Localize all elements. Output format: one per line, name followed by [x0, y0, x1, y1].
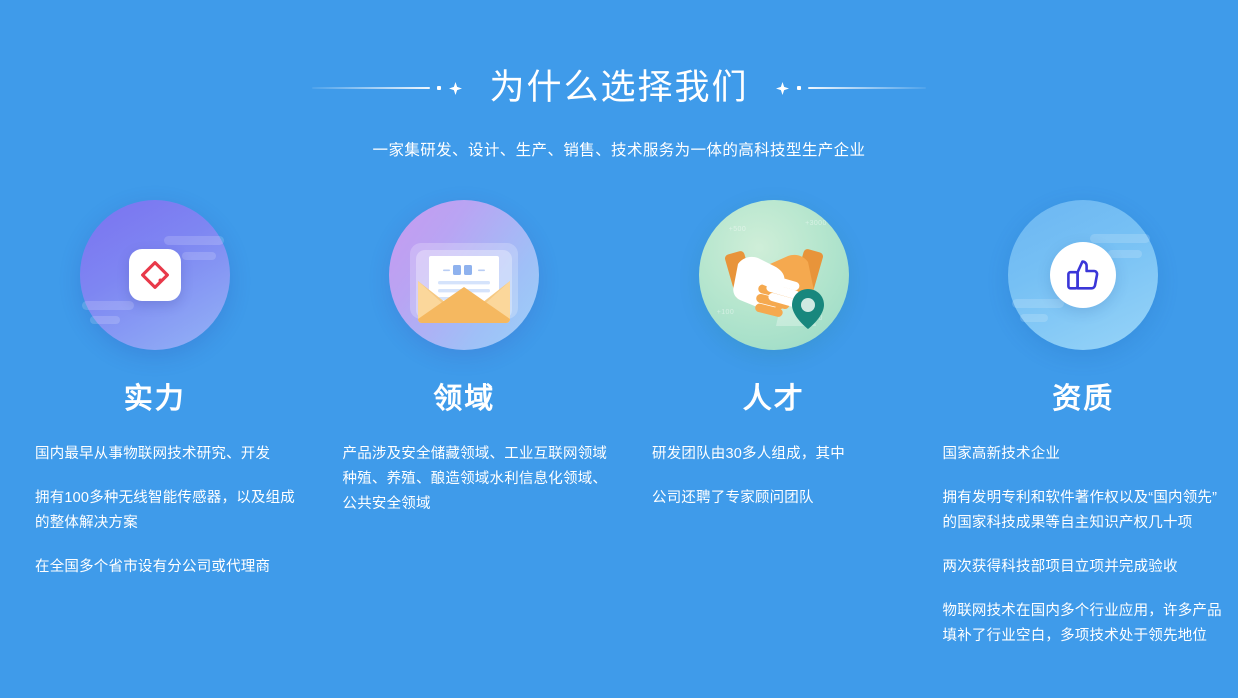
decoration-line-left: [312, 87, 430, 89]
feature-paragraph: 在全国多个省市设有分公司或代理商: [35, 555, 298, 580]
title-decoration-left: [312, 81, 463, 96]
feature-paragraph: 国内最早从事物联网技术研究、开发: [35, 442, 298, 467]
feature-paragraph: 拥有发明专利和软件著作权以及“国内领先”的国家科技成果等自主知识产权几十项: [943, 486, 1226, 536]
feature-heading: 领域: [433, 385, 495, 414]
handshake-graphic: [712, 220, 836, 330]
decoration-dot-right: [797, 86, 801, 90]
feature-heading: 实力: [124, 385, 186, 414]
page-subtitle: 一家集研发、设计、生产、销售、技术服务为一体的高科技型生产企业: [0, 138, 1238, 160]
feature-paragraph: 两次获得科技部项目立项并完成验收: [943, 555, 1226, 580]
section-header: 为什么选择我们 一家集研发、设计、生产、销售、技术服务为一体的高科技型生产企业: [0, 0, 1238, 160]
diamond-badge-icon: [80, 200, 230, 350]
feature-column-strength: 实力 国内最早从事物联网技术研究、开发 拥有100多种无线智能传感器，以及组成的…: [0, 200, 310, 649]
feature-column-talent: +500 +3000 +100 +80: [619, 200, 929, 649]
title-decoration-right: [775, 81, 926, 96]
handshake-icon: +500 +3000 +100 +80: [699, 200, 849, 350]
feature-paragraph: 公司还聘了专家顾问团队: [652, 486, 907, 511]
feature-paragraph: 研发团队由30多人组成，其中: [652, 442, 907, 467]
feature-columns: 实力 国内最早从事物联网技术研究、开发 拥有100多种无线智能传感器，以及组成的…: [0, 200, 1238, 649]
feature-column-domain: 领域 产品涉及安全储藏领域、工业互联网领域种殖、养殖、酿造领域水利信息化领域、公…: [310, 200, 620, 649]
envelope-letter-icon: [389, 200, 539, 350]
feature-text-block: 国内最早从事物联网技术研究、开发 拥有100多种无线智能传感器，以及组成的整体解…: [0, 442, 310, 580]
feature-heading: 资质: [1052, 385, 1114, 414]
four-point-star-icon: [775, 81, 790, 96]
page-title: 为什么选择我们: [463, 67, 774, 109]
page-root: { "page": { "background_color": "#3f9bea…: [0, 0, 1238, 698]
feature-paragraph: 国家高新技术企业: [943, 442, 1226, 467]
decoration-dot-left: [437, 86, 441, 90]
icon-white-disc: [1050, 242, 1116, 308]
feature-paragraph: 物联网技术在国内多个行业应用，许多产品填补了行业空白，多项技术处于领先地位: [943, 599, 1226, 649]
four-point-star-icon: [448, 81, 463, 96]
feature-column-qualification: 资质 国家高新技术企业 拥有发明专利和软件著作权以及“国内领先”的国家科技成果等…: [929, 200, 1238, 649]
feature-paragraph: 拥有100多种无线智能传感器，以及组成的整体解决方案: [35, 486, 298, 536]
title-row: 为什么选择我们: [0, 62, 1238, 114]
feature-text-block: 国家高新技术企业 拥有发明专利和软件著作权以及“国内领先”的国家科技成果等自主知…: [929, 442, 1238, 649]
feature-paragraph: 产品涉及安全储藏领域、工业互联网领域种殖、养殖、酿造领域水利信息化领域、公共安全…: [343, 442, 610, 517]
envelope-graphic: [406, 223, 522, 327]
thumbs-up-icon: [1008, 200, 1158, 350]
decoration-line-right: [808, 87, 926, 89]
feature-text-block: 产品涉及安全储藏领域、工业互联网领域种殖、养殖、酿造领域水利信息化领域、公共安全…: [310, 442, 620, 517]
feature-text-block: 研发团队由30多人组成，其中 公司还聘了专家顾问团队: [619, 442, 929, 511]
icon-white-tile: [129, 249, 181, 301]
feature-heading: 人才: [743, 385, 805, 414]
